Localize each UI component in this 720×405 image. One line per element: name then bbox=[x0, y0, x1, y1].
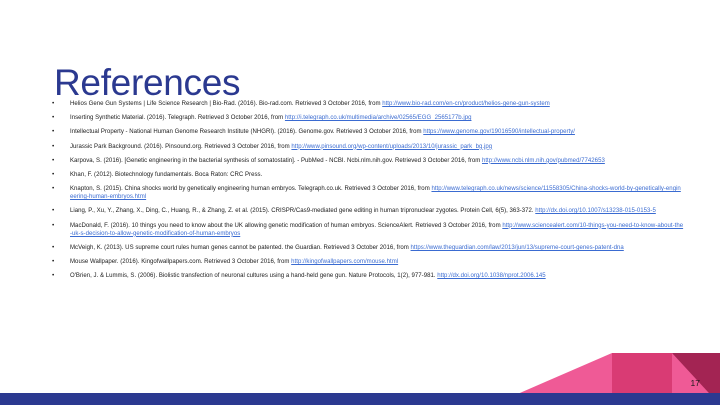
reference-link[interactable]: https://www.genome.gov/19016590/intellec… bbox=[423, 129, 575, 135]
reference-item: •Knapton, S. (2015). China shocks world … bbox=[48, 185, 684, 201]
reference-text: Helios Gene Gun Systems | Life Science R… bbox=[70, 101, 382, 107]
reference-item: •McVeigh, K. (2013). US supreme court ru… bbox=[48, 244, 684, 252]
reference-text: Inserting Synthetic Material. (2016). Te… bbox=[70, 115, 285, 121]
pink-light-left-triangle bbox=[492, 353, 612, 405]
bullet-icon: • bbox=[52, 258, 54, 266]
reference-text: MacDonald, F. (2016). 10 things you need… bbox=[70, 223, 502, 229]
bullet-icon: • bbox=[52, 157, 54, 165]
reference-item: •Intellectual Property - National Human … bbox=[48, 128, 684, 136]
reference-link[interactable]: http://dx.doi.org/10.1038/nprot.2006.145 bbox=[437, 273, 545, 279]
reference-item: •Helios Gene Gun Systems | Life Science … bbox=[48, 100, 684, 108]
bullet-icon: • bbox=[52, 171, 54, 179]
page-number: 17 bbox=[691, 378, 700, 388]
slide-references: References •Helios Gene Gun Systems | Li… bbox=[0, 0, 720, 405]
reference-item: •Mouse Wallpaper. (2016). Kingofwallpape… bbox=[48, 258, 684, 266]
reference-item: •Khan, F. (2012). Biotechnology fundamen… bbox=[48, 171, 684, 179]
pink-light-right-triangle bbox=[672, 353, 720, 405]
reference-link[interactable]: http://www.pinsound.org/wp-content/uploa… bbox=[291, 144, 492, 150]
reference-list: •Helios Gene Gun Systems | Life Science … bbox=[48, 100, 684, 286]
page-title: References bbox=[54, 61, 240, 105]
reference-text: Karpova, S. (2016). [Genetic engineering… bbox=[70, 158, 482, 164]
reference-text: Knapton, S. (2015). China shocks world b… bbox=[70, 186, 431, 192]
reference-item: •Karpova, S. (2016). [Genetic engineerin… bbox=[48, 157, 684, 165]
reference-link[interactable]: http://kingofwallpapers.com/mouse.html bbox=[291, 259, 398, 265]
reference-link[interactable]: http://i.telegraph.co.uk/multimedia/arch… bbox=[285, 115, 472, 121]
bullet-icon: • bbox=[52, 244, 54, 252]
bullet-icon: • bbox=[52, 185, 54, 193]
bullet-icon: • bbox=[52, 272, 54, 280]
bullet-icon: • bbox=[52, 207, 54, 215]
reference-link[interactable]: http://www.bio-rad.com/en-cn/product/hel… bbox=[382, 101, 550, 107]
footer-bar bbox=[0, 393, 720, 405]
pink-mid-rectangle bbox=[612, 353, 672, 405]
triangle-decoration-svg bbox=[0, 325, 720, 405]
bullet-icon: • bbox=[52, 222, 54, 230]
reference-link[interactable]: http://dx.doi.org/10.1007/s13238-015-015… bbox=[535, 208, 656, 214]
reference-item: •Inserting Synthetic Material. (2016). T… bbox=[48, 114, 684, 122]
bullet-icon: • bbox=[52, 128, 54, 136]
bullet-icon: • bbox=[52, 114, 54, 122]
reference-text: Jurassic Park Background. (2016). Pinsou… bbox=[70, 144, 291, 150]
reference-text: McVeigh, K. (2013). US supreme court rul… bbox=[70, 245, 411, 251]
reference-text: Intellectual Property - National Human G… bbox=[70, 129, 423, 135]
reference-text: Mouse Wallpaper. (2016). Kingofwallpaper… bbox=[70, 259, 291, 265]
maroon-right-triangle bbox=[672, 353, 720, 405]
bullet-icon: • bbox=[52, 100, 54, 108]
reference-item: •O'Brien, J. & Lummis, S. (2006). Biolis… bbox=[48, 272, 684, 280]
reference-link[interactable]: http://www.ncbi.nlm.nih.gov/pubmed/77426… bbox=[482, 158, 605, 164]
reference-link[interactable]: https://www.theguardian.com/law/2013/jun… bbox=[411, 245, 624, 251]
reference-item: •MacDonald, F. (2016). 10 things you nee… bbox=[48, 222, 684, 238]
reference-text: Liang, P., Xu, Y., Zhang, X., Ding, C., … bbox=[70, 208, 535, 214]
bottom-decoration: 17 bbox=[0, 325, 720, 405]
bullet-icon: • bbox=[52, 143, 54, 151]
reference-text: O'Brien, J. & Lummis, S. (2006). Biolist… bbox=[70, 273, 437, 279]
reference-item: •Jurassic Park Background. (2016). Pinso… bbox=[48, 143, 684, 151]
reference-item: •Liang, P., Xu, Y., Zhang, X., Ding, C.,… bbox=[48, 207, 684, 215]
reference-text: Khan, F. (2012). Biotechnology fundament… bbox=[70, 172, 262, 178]
